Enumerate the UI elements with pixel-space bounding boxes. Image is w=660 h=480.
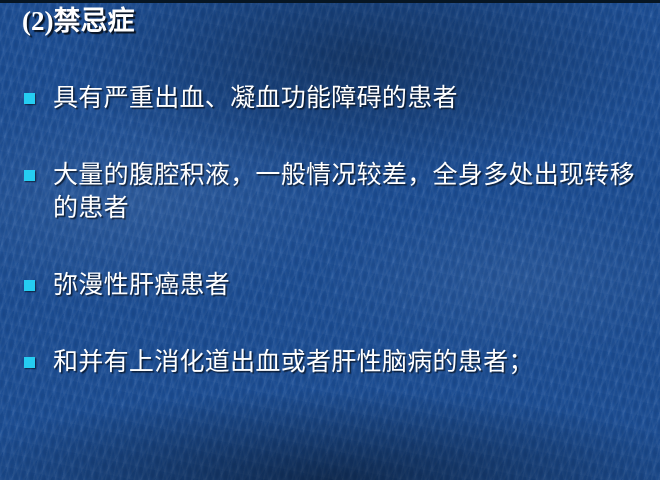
top-edge-band [0,0,660,3]
list-item: 和并有上消化道出血或者肝性脑病的患者； [24,346,640,379]
bullet-list: 具有严重出血、凝血功能障碍的患者 大量的腹腔积液，一般情况较差，全身多处出现转移… [24,82,640,379]
list-item: 具有严重出血、凝血功能障碍的患者 [24,82,640,115]
list-item-text: 具有严重出血、凝血功能障碍的患者 [53,82,640,115]
list-item-text: 大量的腹腔积液，一般情况较差，全身多处出现转移的患者 [53,159,640,225]
slide-title: (2)禁忌症 [22,7,134,37]
square-bullet-icon [24,280,35,291]
square-bullet-icon [24,170,35,181]
list-item-text: 和并有上消化道出血或者肝性脑病的患者； [53,346,640,379]
list-item: 大量的腹腔积液，一般情况较差，全身多处出现转移的患者 [24,159,640,225]
presentation-slide: (2)禁忌症 具有严重出血、凝血功能障碍的患者 大量的腹腔积液，一般情况较差，全… [0,0,660,480]
square-bullet-icon [24,357,35,368]
square-bullet-icon [24,93,35,104]
list-item: 弥漫性肝癌患者 [24,269,640,302]
list-item-text: 弥漫性肝癌患者 [53,269,640,302]
